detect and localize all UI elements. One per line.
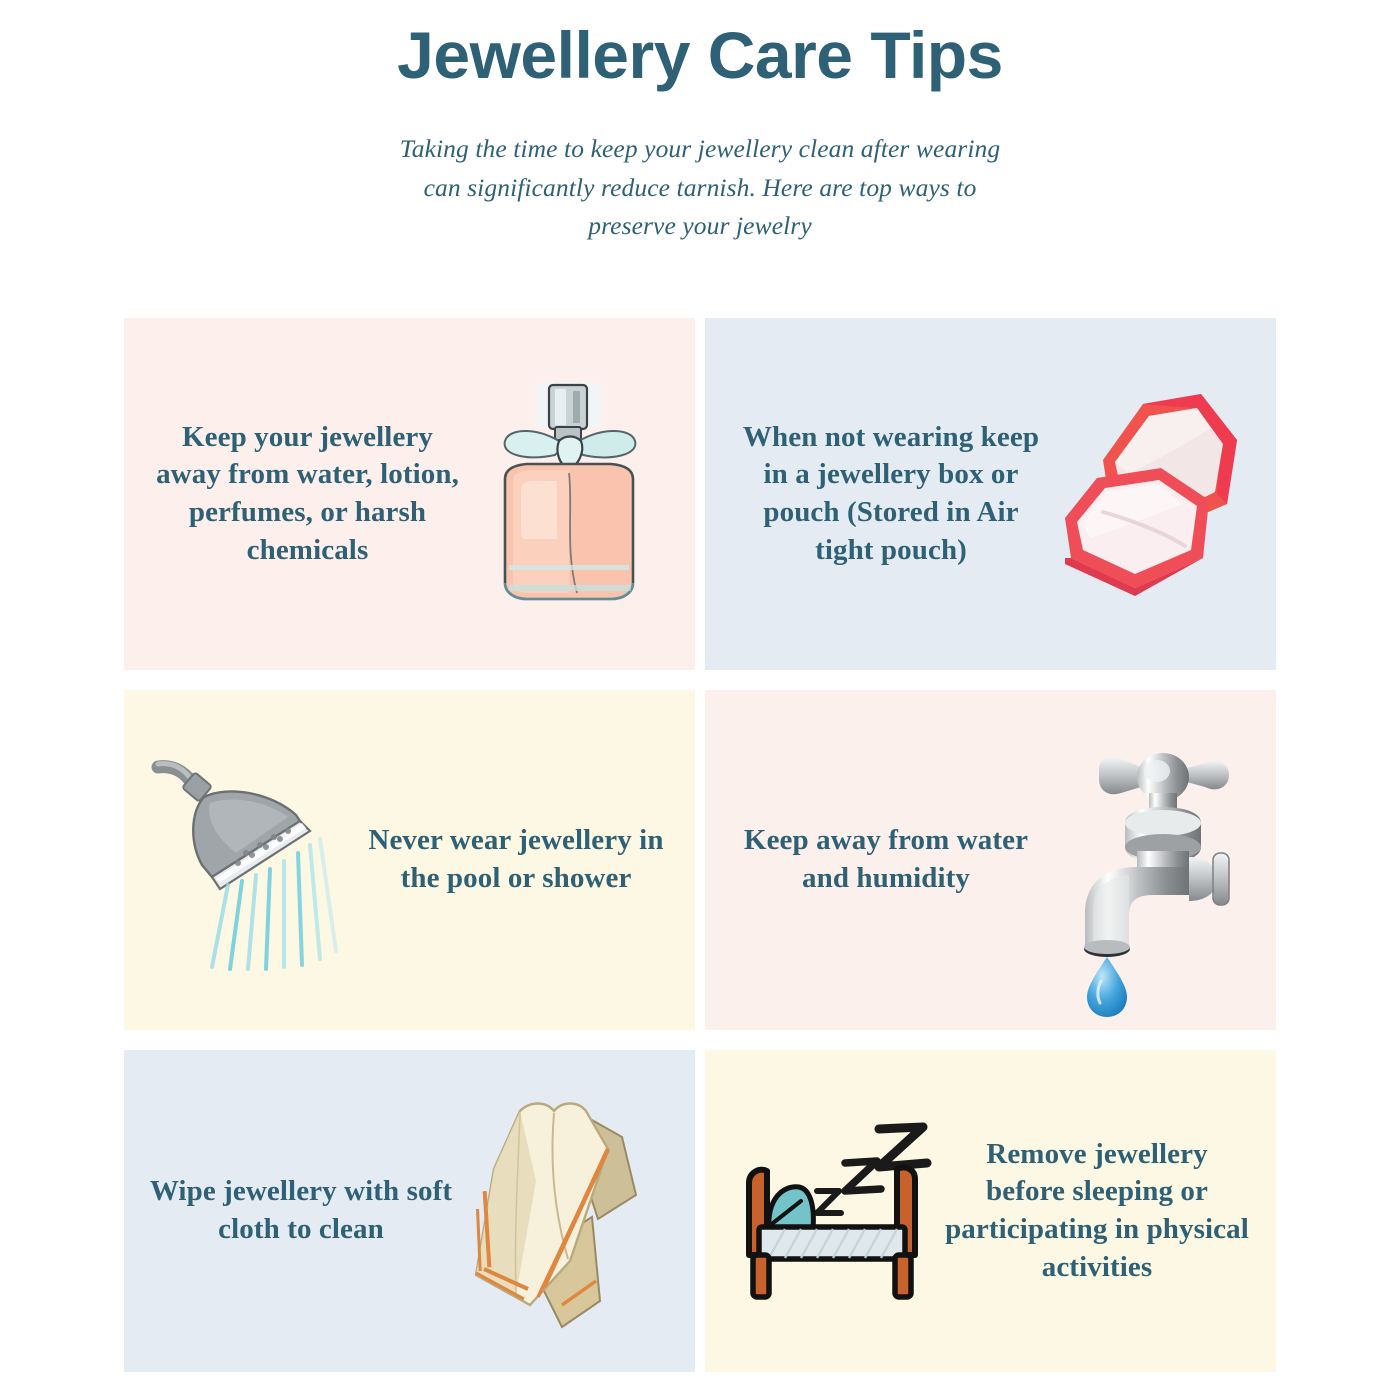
faucet-icon [1037, 735, 1262, 985]
page-title: Jewellery Care Tips [0, 18, 1400, 94]
tip-card-store-in-box: When not wearing keep in a jewellery box… [705, 318, 1276, 670]
tip-card-text: Keep away from water and humidity [705, 822, 1037, 897]
infographic-page: Jewellery Care Tips Taking the time to k… [0, 0, 1400, 1400]
page-subtitle: Taking the time to keep your jewellery c… [380, 130, 1020, 246]
perfume-bottle-icon [469, 369, 669, 619]
bed-sleep-icon [729, 1111, 944, 1311]
tip-card-text: Remove jewellery before sleeping or part… [944, 1136, 1276, 1287]
tip-card-text: Wipe jewellery with soft cloth to clean [124, 1173, 458, 1248]
tip-card-remove-before-sleep: Remove jewellery before sleeping or part… [705, 1050, 1276, 1372]
tip-card-text: Keep your jewellery away from water, lot… [124, 419, 469, 570]
tip-card-text: When not wearing keep in a jewellery box… [705, 419, 1051, 570]
tip-card-text: Never wear jewellery in the pool or show… [365, 822, 695, 897]
tip-card-water-lotion-perfume: Keep your jewellery away from water, lot… [124, 318, 695, 670]
tip-card-no-pool-shower: Never wear jewellery in the pool or show… [124, 690, 695, 1030]
jewellery-box-icon [1051, 382, 1266, 607]
tip-card-avoid-humidity: Keep away from water and humidity [705, 690, 1276, 1030]
cloth-icon [458, 1091, 673, 1331]
header: Jewellery Care Tips Taking the time to k… [0, 0, 1400, 246]
shower-head-icon [150, 745, 365, 975]
tip-card-wipe-with-cloth: Wipe jewellery with soft cloth to clean [124, 1050, 695, 1372]
tips-grid: Keep your jewellery away from water, lot… [124, 318, 1276, 1372]
